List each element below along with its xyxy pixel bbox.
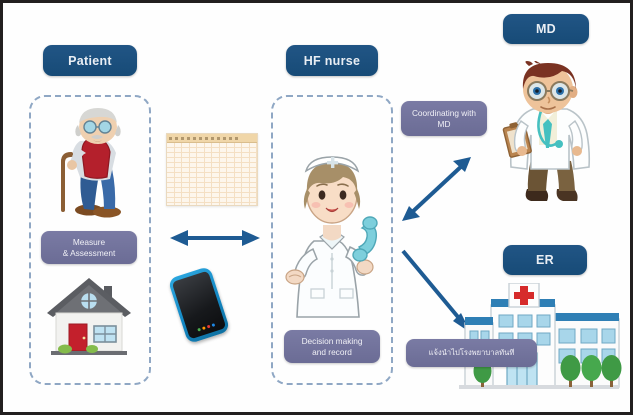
double-arrow-horizontal-icon [168,225,262,251]
chip-refer-hospital: แจ้งนำไปโรงพยาบาลทันที [406,339,537,367]
home-illustration [43,269,135,361]
diagram-frame: Patient [0,0,633,415]
elderly-man-icon [41,107,137,219]
badge-hf-nurse-label: HF nurse [304,54,361,68]
smartphone [168,266,231,344]
doctor-figure [489,61,607,205]
elderly-patient-figure [41,107,137,219]
chip-decision-line1: Decision making [302,336,363,346]
arrow-patient-nurse [168,225,262,251]
male-doctor-icon [489,61,607,205]
badge-md-label: MD [536,22,556,36]
phone-app-dots [197,323,215,331]
nurse-on-phone-icon [280,137,384,325]
paper-record-table [166,133,258,206]
badge-patient-label: Patient [68,54,112,68]
hospital-building-icon [455,283,623,393]
chip-decision-line2: and record [312,347,352,357]
chip-coordinating-line1: Coordinating with [412,108,476,118]
chip-measure-line2: & Assessment [63,248,116,258]
phone-screen [172,271,227,340]
double-arrow-diagonal-up-icon [395,149,479,229]
chip-coordinating-line2: MD [438,119,451,129]
house-icon [43,269,135,361]
chip-refer-hospital-label: แจ้งนำไปโรงพยาบาลทันที [429,348,515,357]
table-columns [167,143,257,205]
hf-nurse-figure [280,137,384,325]
chip-decision-making: Decision making and record [284,330,380,363]
badge-er: ER [503,245,587,275]
badge-er-label: ER [536,253,554,267]
badge-patient: Patient [43,45,137,76]
table-header-row [167,134,257,143]
chip-measure-line1: Measure [73,237,105,247]
arrow-nurse-md [395,149,479,229]
phone-body [168,266,231,344]
badge-hf-nurse: HF nurse [286,45,378,76]
diagram-canvas: Patient [3,3,630,412]
chip-coordinating-md: Coordinating with MD [401,101,487,136]
table-body [167,143,257,205]
badge-md: MD [503,14,589,44]
chip-measure-assessment: Measure & Assessment [41,231,137,264]
hospital-illustration [455,283,623,393]
